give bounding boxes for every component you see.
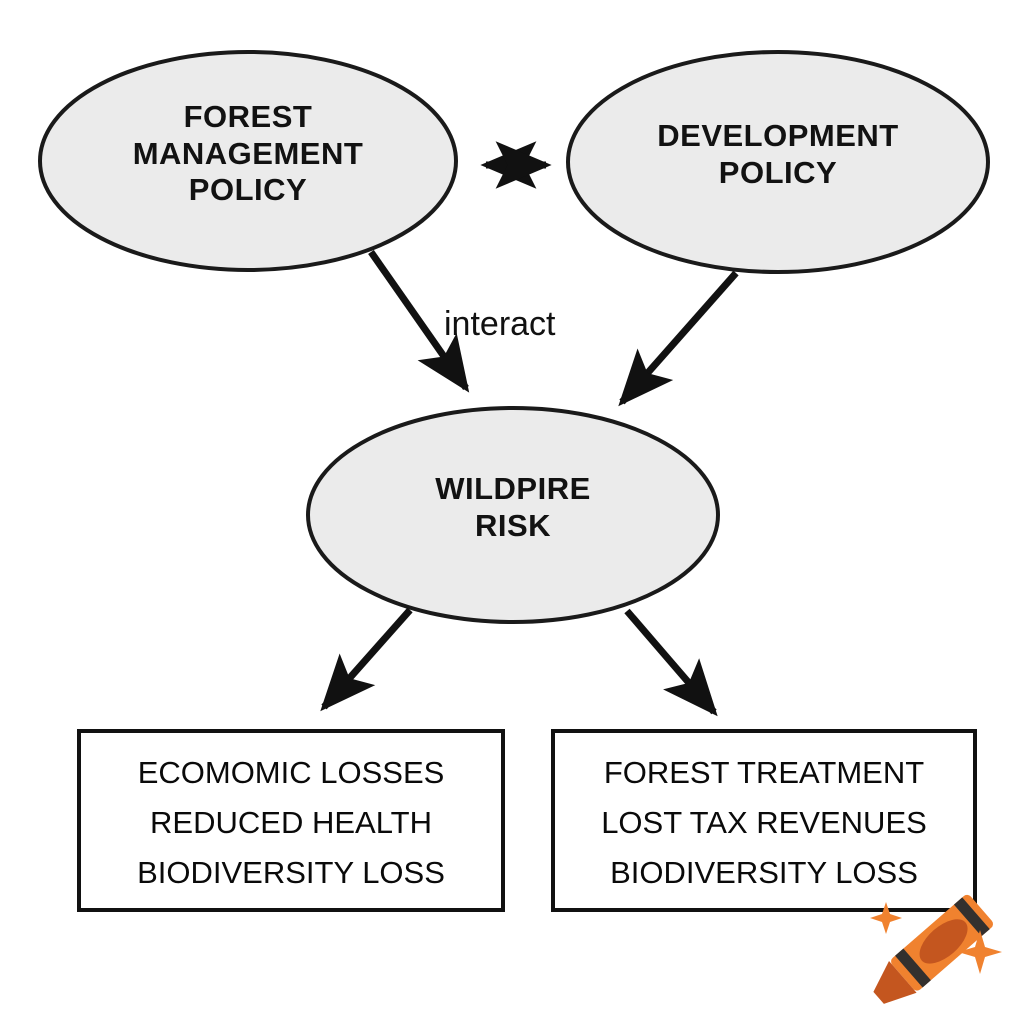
diagram-graphics <box>0 0 1024 1024</box>
node-forest-management-policy[interactable] <box>40 52 456 270</box>
sparkle-small-icon <box>870 902 902 934</box>
diagram-canvas: FOREST MANAGEMENT POLICY DEVELOPMENT POL… <box>0 0 1024 1024</box>
edge-development-policy-to-risk <box>622 273 736 402</box>
node-wildfire-risk[interactable] <box>308 408 718 622</box>
crayon-logo-watermark <box>856 878 1016 1018</box>
node-outcomes-left[interactable] <box>79 731 503 910</box>
edge-risk-to-outcomes-left <box>324 610 410 707</box>
node-development-policy[interactable] <box>568 52 988 272</box>
edge-risk-to-outcomes-right <box>627 611 714 712</box>
edge-forest-policy-to-risk <box>371 252 466 388</box>
